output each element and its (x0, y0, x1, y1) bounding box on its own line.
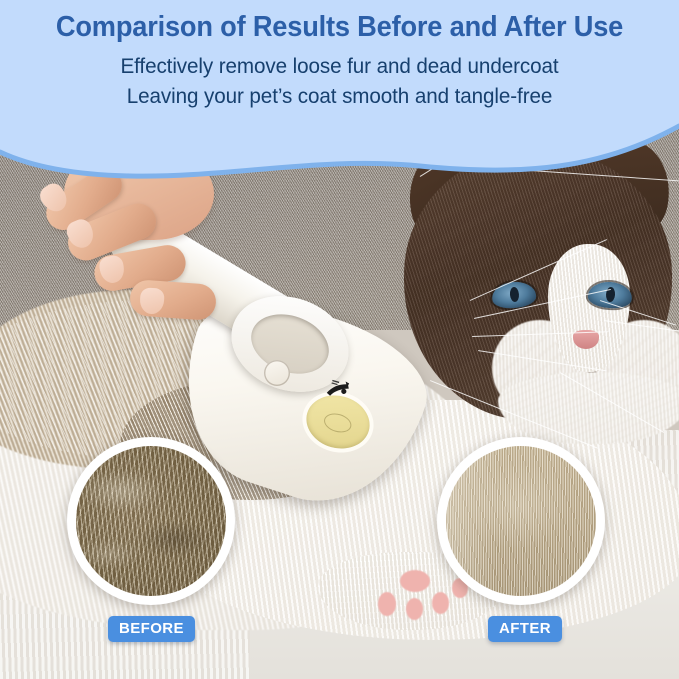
brush-small-button (264, 360, 290, 386)
subtitle-line-2: Leaving your pet’s coat smooth and tangl… (14, 84, 666, 109)
before-fur-closeup (76, 446, 226, 596)
page-title: Comparison of Results Before and After U… (15, 11, 663, 44)
subtitle-line-1: Effectively remove loose fur and dead un… (14, 54, 666, 79)
after-label: AFTER (488, 616, 562, 642)
smooth-fur-texture (446, 446, 596, 596)
before-label: BEFORE (108, 616, 195, 642)
before-circle (67, 437, 235, 605)
header-text-block: Comparison of Results Before and After U… (0, 0, 679, 109)
cat-paw-pad (400, 570, 430, 592)
header-banner: Comparison of Results Before and After U… (0, 0, 679, 190)
cat-toe-bean (378, 592, 396, 616)
cat-pupil-left (509, 287, 519, 303)
product-comparison-image: Comparison of Results Before and After U… (0, 0, 679, 679)
brush-loop-opening (243, 304, 337, 384)
human-hand (8, 178, 218, 328)
after-fur-closeup (446, 446, 596, 596)
matted-fur-texture (76, 446, 226, 596)
after-circle (437, 437, 605, 605)
cat-toe-bean (406, 598, 423, 620)
